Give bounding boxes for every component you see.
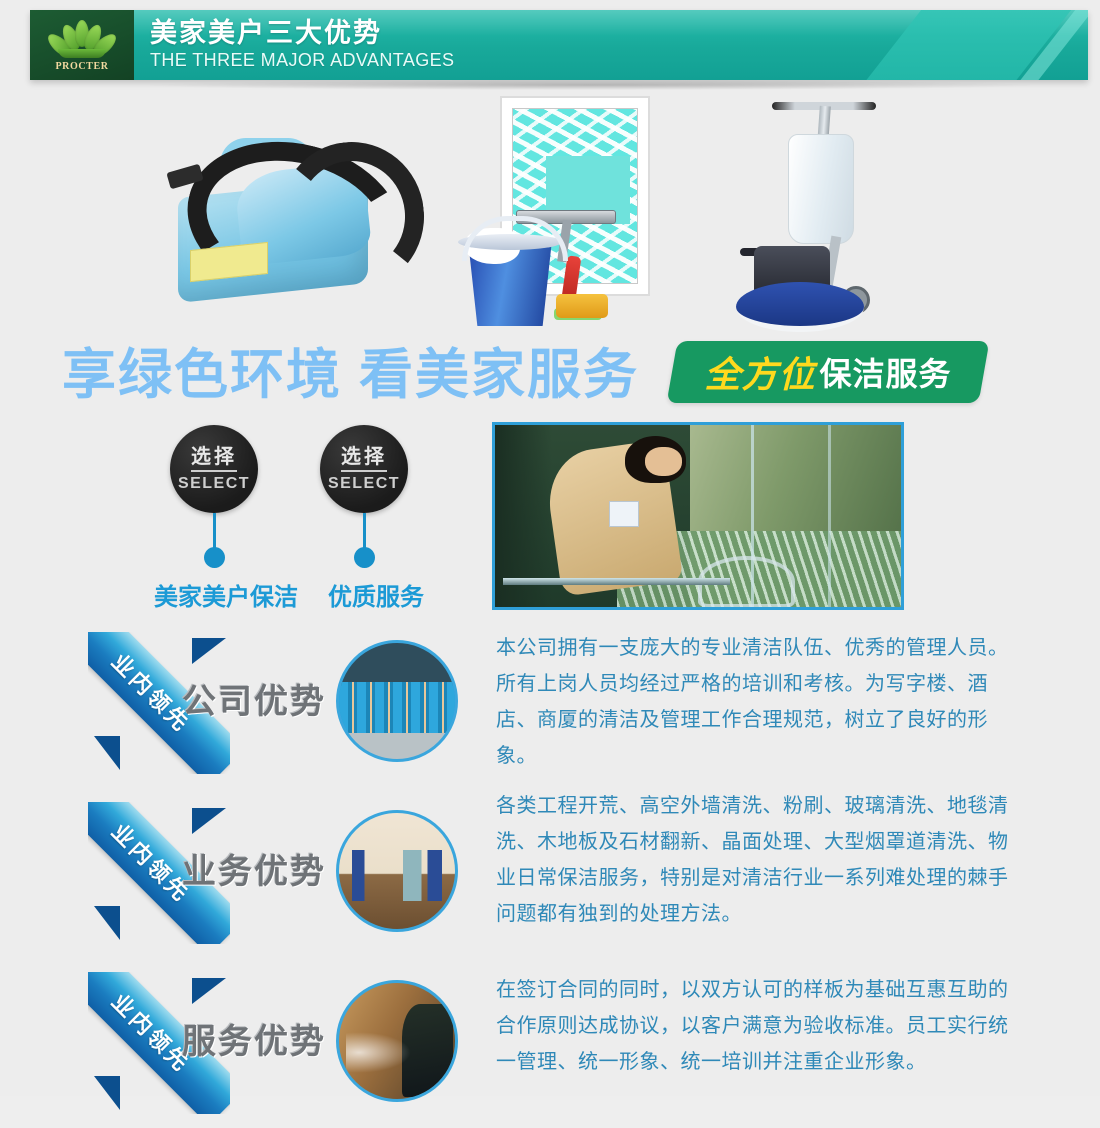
select-circle-en: SELECT <box>328 475 400 493</box>
select-circle-cn: 选择 <box>341 446 387 472</box>
advantage-rows: 业内领先 公司优势 本公司拥有一支庞大的专业清洁队伍、优秀的管理人员。所有上岗人… <box>0 618 1100 1128</box>
product-image-strip <box>0 88 1100 338</box>
floor-polisher-image <box>730 96 920 326</box>
badge-text: 保洁服务 <box>820 349 952 395</box>
header-title-group: 美家美户三大优势 THE THREE MAJOR ADVANTAGES <box>150 18 454 71</box>
advantages-page: PROCTER 美家美户三大优势 THE THREE MAJOR ADVANTA… <box>0 0 1100 1096</box>
window-cleaning-image <box>478 88 668 328</box>
page-subtitle: THE THREE MAJOR ADVANTAGES <box>150 49 454 71</box>
hero-headline: 享绿色环境 看美家服务 <box>62 345 639 405</box>
select-circle-cn: 选择 <box>191 446 237 472</box>
ulv-sprayer-image <box>168 108 428 318</box>
advantage-thumbnail <box>336 640 458 762</box>
connector-dot-icon <box>354 547 375 568</box>
advantage-row: 业内领先 公司优势 本公司拥有一支庞大的专业清洁队伍、优秀的管理人员。所有上岗人… <box>0 618 1100 788</box>
advantage-title: 业务优势 <box>182 844 362 893</box>
select-circle-icon: 选择 SELECT <box>170 425 258 513</box>
brand-logo[interactable]: PROCTER <box>30 10 134 80</box>
advantage-description: 各类工程开荒、高空外墙清洗、粉刷、玻璃清洗、地毯清洗、木地板及石材翻新、晶面处理… <box>496 788 1016 932</box>
connector-dot-icon <box>204 547 225 568</box>
leaf-crown-icon <box>50 19 114 59</box>
advantage-description: 在签订合同的同时，以双方认可的样板为基础互惠互助的合作原则达成协议，以客户满意为… <box>496 972 1016 1080</box>
full-service-badge: 全方位 保洁服务 <box>667 341 990 403</box>
advantage-title: 服务优势 <box>182 1014 362 1063</box>
page-title: 美家美户三大优势 <box>150 18 454 48</box>
sponge-icon <box>556 294 608 318</box>
select-circle-en: SELECT <box>178 475 250 493</box>
select-badges: 选择 SELECT 美家美户保洁 选择 SELECT 优质服务 <box>0 425 470 610</box>
page-header: PROCTER 美家美户三大优势 THE THREE MAJOR ADVANTA… <box>30 10 1088 80</box>
select-label-2: 优质服务 <box>286 577 466 612</box>
header-banner: PROCTER 美家美户三大优势 THE THREE MAJOR ADVANTA… <box>30 10 1088 80</box>
badge-highlight-text: 全方位 <box>704 346 815 398</box>
advantage-row: 业内领先 业务优势 各类工程开荒、高空外墙清洗、粉刷、玻璃清洗、地毯清洗、木地板… <box>0 788 1100 958</box>
advantage-title: 公司优势 <box>182 674 362 723</box>
advantage-row: 业内领先 服务优势 在签订合同的同时，以双方认可的样板为基础互惠互助的合作原则达… <box>0 958 1100 1128</box>
brand-logo-text: PROCTER <box>55 61 108 72</box>
advantage-description: 本公司拥有一支庞大的专业清洁队伍、优秀的管理人员。所有上岗人员均经过严格的培训和… <box>496 630 1016 774</box>
advantage-thumbnail <box>336 810 458 932</box>
select-circle-icon: 选择 SELECT <box>320 425 408 513</box>
advantage-thumbnail <box>336 980 458 1102</box>
hero-photo <box>492 422 904 610</box>
